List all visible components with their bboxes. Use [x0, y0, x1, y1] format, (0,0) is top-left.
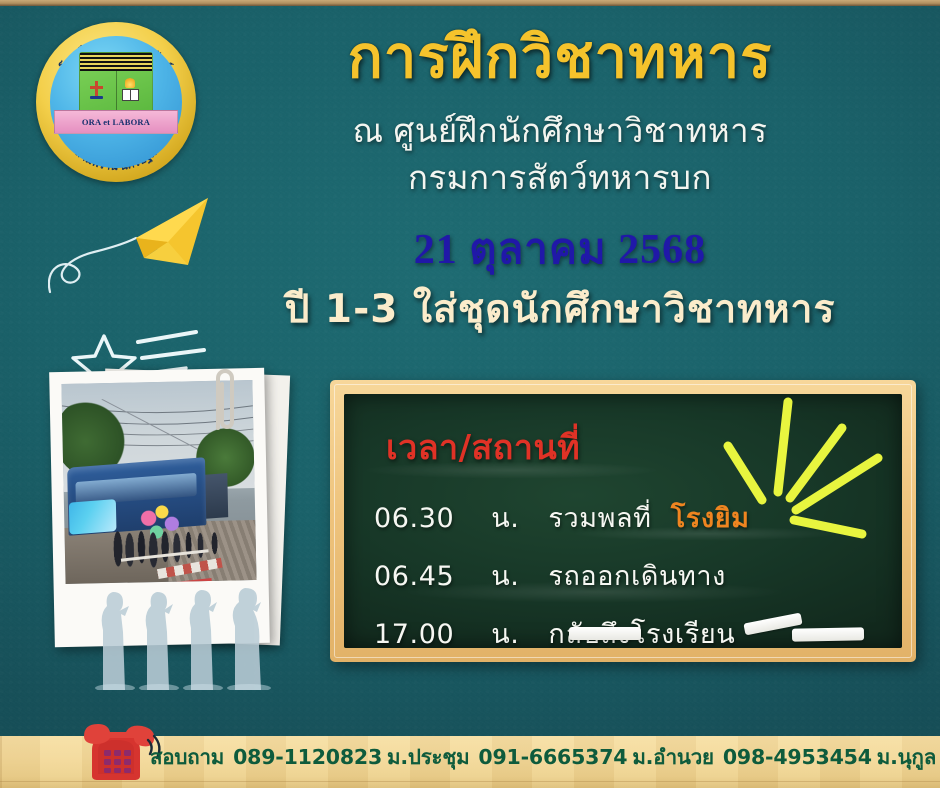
- schedule-time: 06.45: [374, 561, 482, 592]
- venue-block: ณ ศูนย์ฝึกนักศึกษาวิชาทหาร กรมการสัตว์ทห…: [190, 108, 930, 202]
- chalk-piece: [792, 627, 864, 641]
- schedule-unit: น.: [491, 496, 539, 539]
- board-heading: เวลา/สถานที่: [386, 420, 580, 474]
- poster-root: โรงเรียนยอแซฟอุปถัมภ์ JOSEPH UPATHAM SCH…: [0, 0, 940, 788]
- venue-line-2: กรมการสัตว์ทหารบก: [190, 155, 930, 202]
- chalkboard: เวลา/สถานที่ 06.30 น. รวมพลที่ โรงยิม 06…: [330, 380, 916, 662]
- paper-plane-icon: [48, 180, 238, 295]
- paperclip-icon: [208, 362, 242, 434]
- contact-name: ม.ประชุม: [387, 741, 469, 774]
- silhouette-1: [102, 592, 129, 690]
- schedule-highlight: โรงยิม: [671, 503, 750, 534]
- contact-bar: สอบถาม 089-1120823 ม.ประชุม 091-6665374 …: [150, 740, 940, 774]
- highlight-burst-rays: [666, 394, 896, 574]
- contact-number[interactable]: 089-1120823: [233, 745, 382, 769]
- torch-icon: [125, 77, 135, 88]
- schedule-row: 17.00 น. กลับถึงโรงเรียน: [374, 612, 735, 648]
- anchor-icon: [90, 96, 103, 99]
- contact-number[interactable]: 091-6665374: [478, 745, 627, 769]
- event-date: 21 ตุลาคม 2568: [190, 216, 930, 282]
- contact-name: ม.อำนวย: [632, 741, 713, 774]
- schedule-row: 06.45 น. รถออกเดินทาง: [374, 554, 726, 597]
- contact-name: ม.นุกูล: [877, 741, 936, 774]
- chalkboard-surface: เวลา/สถานที่ 06.30 น. รวมพลที่ โรงยิม 06…: [344, 394, 902, 648]
- silhouette-4: [233, 588, 261, 690]
- chalk-piece: [569, 627, 641, 640]
- top-wood-strip: [0, 0, 940, 6]
- logo-motto-label: ORA et LABORA: [82, 117, 150, 127]
- silhouette-3: [190, 590, 217, 690]
- logo-motto-banner: ORA et LABORA: [54, 110, 179, 134]
- saluting-silhouettes: [85, 572, 315, 690]
- schedule-time: 06.30: [374, 503, 482, 534]
- dress-code-note: ปี 1-3 ใส่ชุดนักศึกษาวิชาทหาร: [190, 278, 930, 340]
- school-logo: โรงเรียนยอแซฟอุปถัมภ์ JOSEPH UPATHAM SCH…: [36, 22, 196, 182]
- schedule-unit: น.: [491, 612, 539, 648]
- contact-number[interactable]: 098-4953454: [723, 745, 872, 769]
- schedule-row: 06.30 น. รวมพลที่ โรงยิม: [374, 496, 750, 539]
- book-icon: [122, 89, 139, 101]
- schedule-text: รวมพลที่: [548, 503, 651, 534]
- schedule-text: รถออกเดินทาง: [548, 561, 726, 592]
- contact-label: สอบถาม: [150, 741, 224, 774]
- schedule-unit: น.: [491, 554, 539, 597]
- page-title: การฝึกวิชาทหาร: [210, 28, 910, 89]
- schedule-time: 17.00: [374, 619, 482, 648]
- venue-line-1: ณ ศูนย์ฝึกนักศึกษาวิชาทหาร: [190, 108, 930, 155]
- silhouette-2: [146, 592, 173, 690]
